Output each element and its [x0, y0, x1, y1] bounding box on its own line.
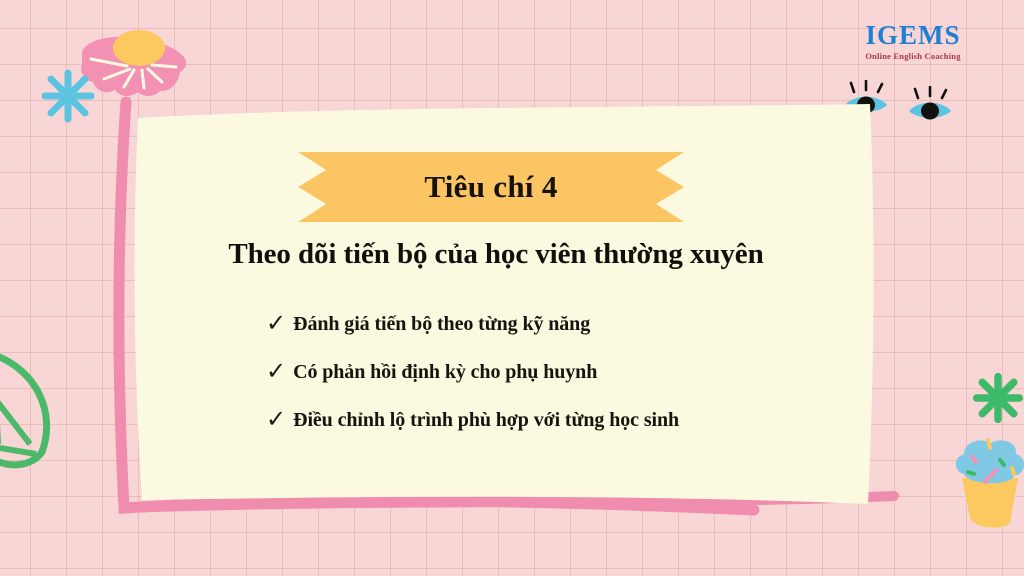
check-icon: ✓: [266, 407, 286, 431]
list-item-label: Đánh giá tiến bộ theo từng kỹ năng: [293, 313, 590, 336]
list-item: ✓ Điều chỉnh lộ trình phù hợp với từng h…: [266, 406, 886, 432]
check-icon: ✓: [266, 311, 286, 335]
list-item: ✓ Có phản hồi định kỳ cho phụ huynh: [266, 358, 886, 384]
check-icon: ✓: [266, 359, 286, 383]
slide-canvas: IGEMS Online English Coaching Tiêu chí 4…: [0, 0, 1024, 576]
banner-title: Tiêu chí 4: [298, 152, 684, 222]
card-subtitle: Theo dõi tiến bộ của học viên thường xuy…: [118, 238, 874, 271]
list-item-label: Có phản hồi định kỳ cho phụ huynh: [293, 361, 597, 384]
bullet-list: ✓ Đánh giá tiến bộ theo từng kỹ năng ✓ C…: [266, 310, 886, 454]
list-item-label: Điều chỉnh lộ trình phù hợp với từng học…: [293, 409, 679, 432]
list-item: ✓ Đánh giá tiến bộ theo từng kỹ năng: [266, 310, 886, 336]
content-card: Tiêu chí 4 Theo dõi tiến bộ của học viên…: [0, 0, 1024, 576]
card-content: Tiêu chí 4 Theo dõi tiến bộ của học viên…: [118, 112, 874, 512]
